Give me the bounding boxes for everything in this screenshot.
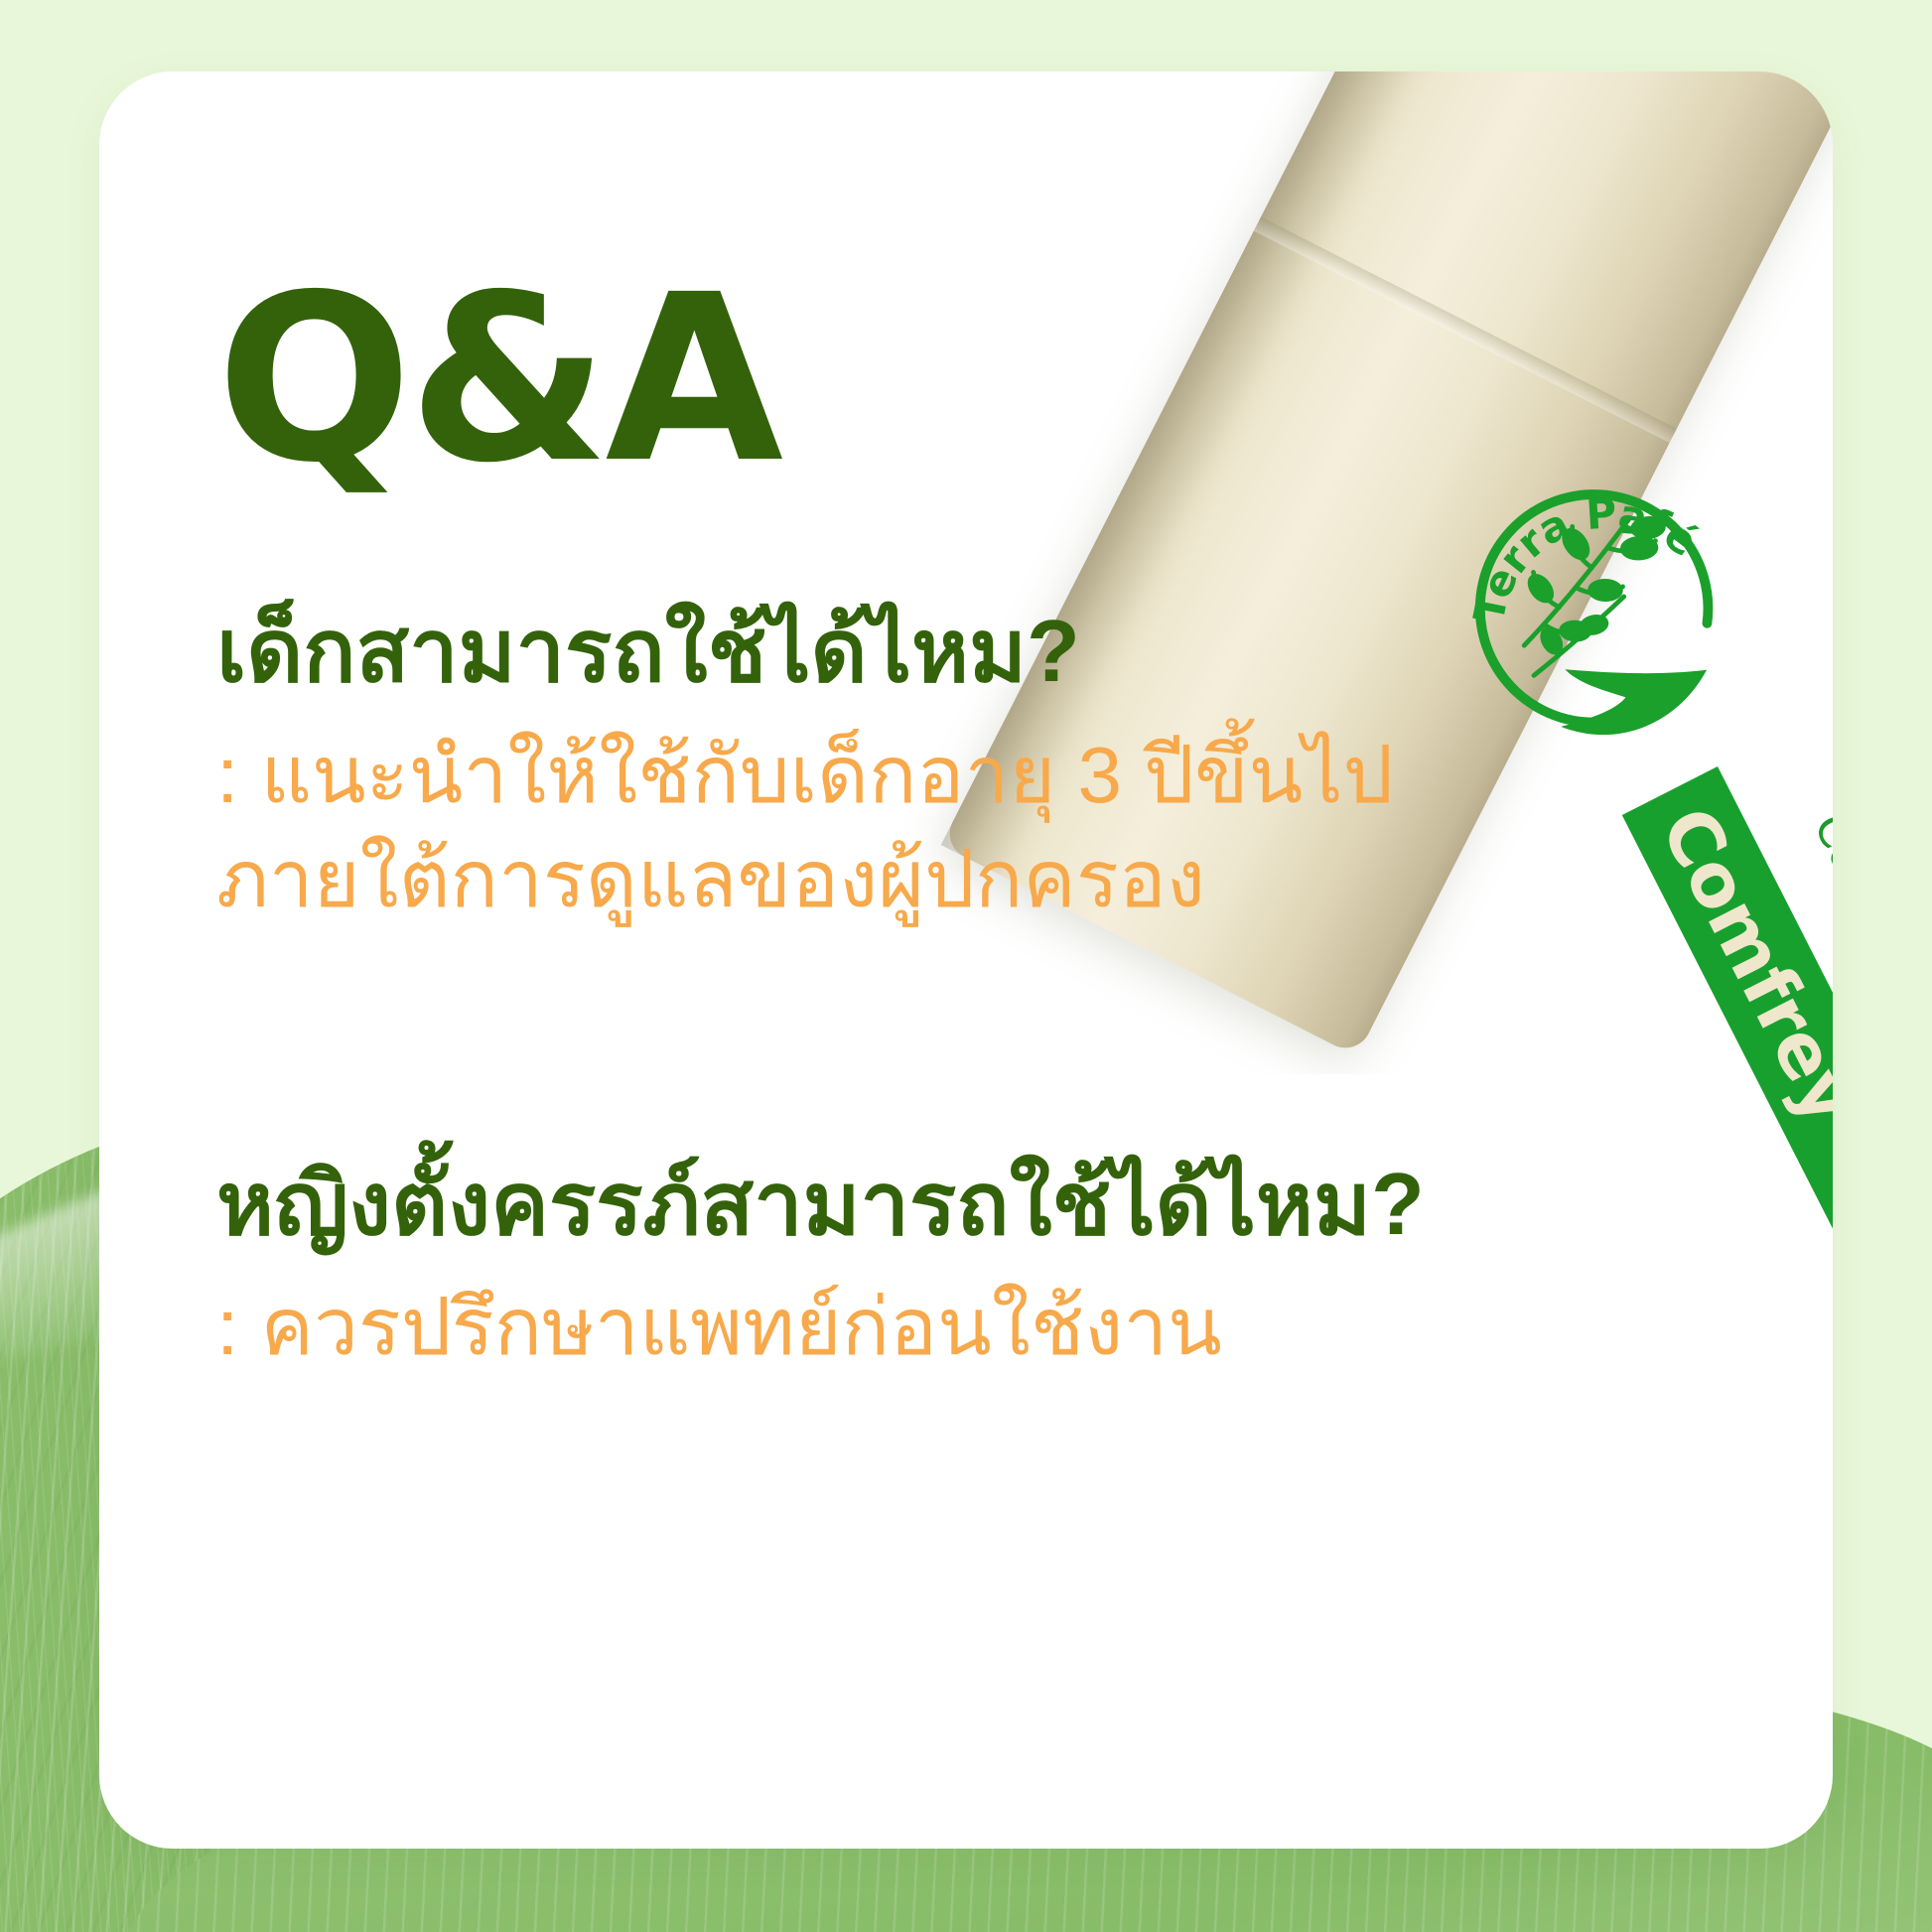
qa-item-2: หญิงตั้งครรภ์สามารถใช้ได้ไหม? : ควรปรึกษ…: [216, 1151, 1626, 1380]
qa-answer-1: : แนะนำให้ใช้กับเด็กอายุ 3 ปีขึ้นไป ภายใ…: [216, 723, 1626, 932]
qa-answer-1-line-2: ภายใต้การดูแลของผู้ปกครอง: [216, 827, 1626, 932]
section-spacer: [216, 1024, 1626, 1151]
content-card: Terra Pafé Comfrey Cool & Q&A เด็กสามารถ…: [99, 71, 1833, 1849]
qa-item-1: เด็กสามารถใช้ได้ไหม? : แนะนำให้ใช้กับเด็…: [216, 598, 1626, 932]
qa-answer-1-line-1: : แนะนำให้ใช้กับเด็กอายุ 3 ปีขึ้นไป: [216, 723, 1626, 828]
band-label: Comfrey: [1643, 794, 1833, 1136]
band-sub-label: Cool &: [1804, 806, 1833, 957]
product-band: Comfrey: [1622, 766, 1833, 1275]
qa-question-2: หญิงตั้งครรภ์สามารถใช้ได้ไหม?: [216, 1151, 1626, 1257]
qa-answer-2-line-1: : ควรปรึกษาแพทย์ก่อนใช้งาน: [216, 1275, 1626, 1380]
qa-question-1: เด็กสามารถใช้ได้ไหม?: [216, 598, 1626, 704]
qa-answer-2: : ควรปรึกษาแพทย์ก่อนใช้งาน: [216, 1275, 1626, 1380]
page-title: Q&A: [216, 270, 1626, 488]
qa-content: Q&A เด็กสามารถใช้ได้ไหม? : แนะนำให้ใช้กั…: [216, 270, 1626, 1471]
poster-canvas: Terra Pafé Comfrey Cool & Q&A เด็กสามารถ…: [0, 0, 1932, 1932]
tube-top-highlight: [1437, 71, 1833, 83]
